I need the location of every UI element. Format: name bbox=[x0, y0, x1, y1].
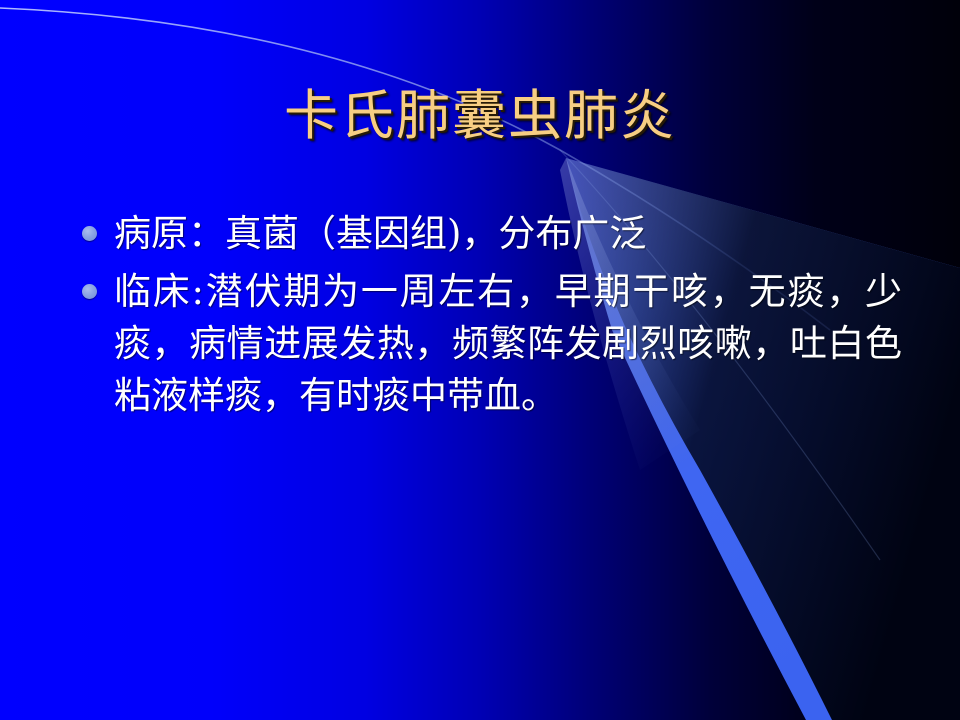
list-item: 临床:潜伏期为一周左右，早期干咳，无痰，少痰，病情进展发热，频繁阵发剧烈咳嗽，吐… bbox=[72, 266, 902, 422]
page-title: 卡氏肺囊虫肺炎 bbox=[284, 88, 676, 145]
bullet-dot-icon bbox=[82, 284, 97, 299]
title-block: 卡氏肺囊虫肺炎 bbox=[0, 88, 960, 145]
list-item-label: 病原：真菌（基因组)，分布广泛 bbox=[114, 208, 902, 260]
presentation-slide: 卡氏肺囊虫肺炎 病原：真菌（基因组)，分布广泛 临床:潜伏期为一周左右，早期干咳… bbox=[0, 0, 960, 720]
list-item-label: 临床:潜伏期为一周左右，早期干咳，无痰，少痰，病情进展发热，频繁阵发剧烈咳嗽，吐… bbox=[114, 266, 902, 422]
bullet-dot-icon bbox=[82, 226, 97, 241]
bullet-list: 病原：真菌（基因组)，分布广泛 临床:潜伏期为一周左右，早期干咳，无痰，少痰，病… bbox=[72, 208, 902, 428]
list-item: 病原：真菌（基因组)，分布广泛 bbox=[72, 208, 902, 260]
